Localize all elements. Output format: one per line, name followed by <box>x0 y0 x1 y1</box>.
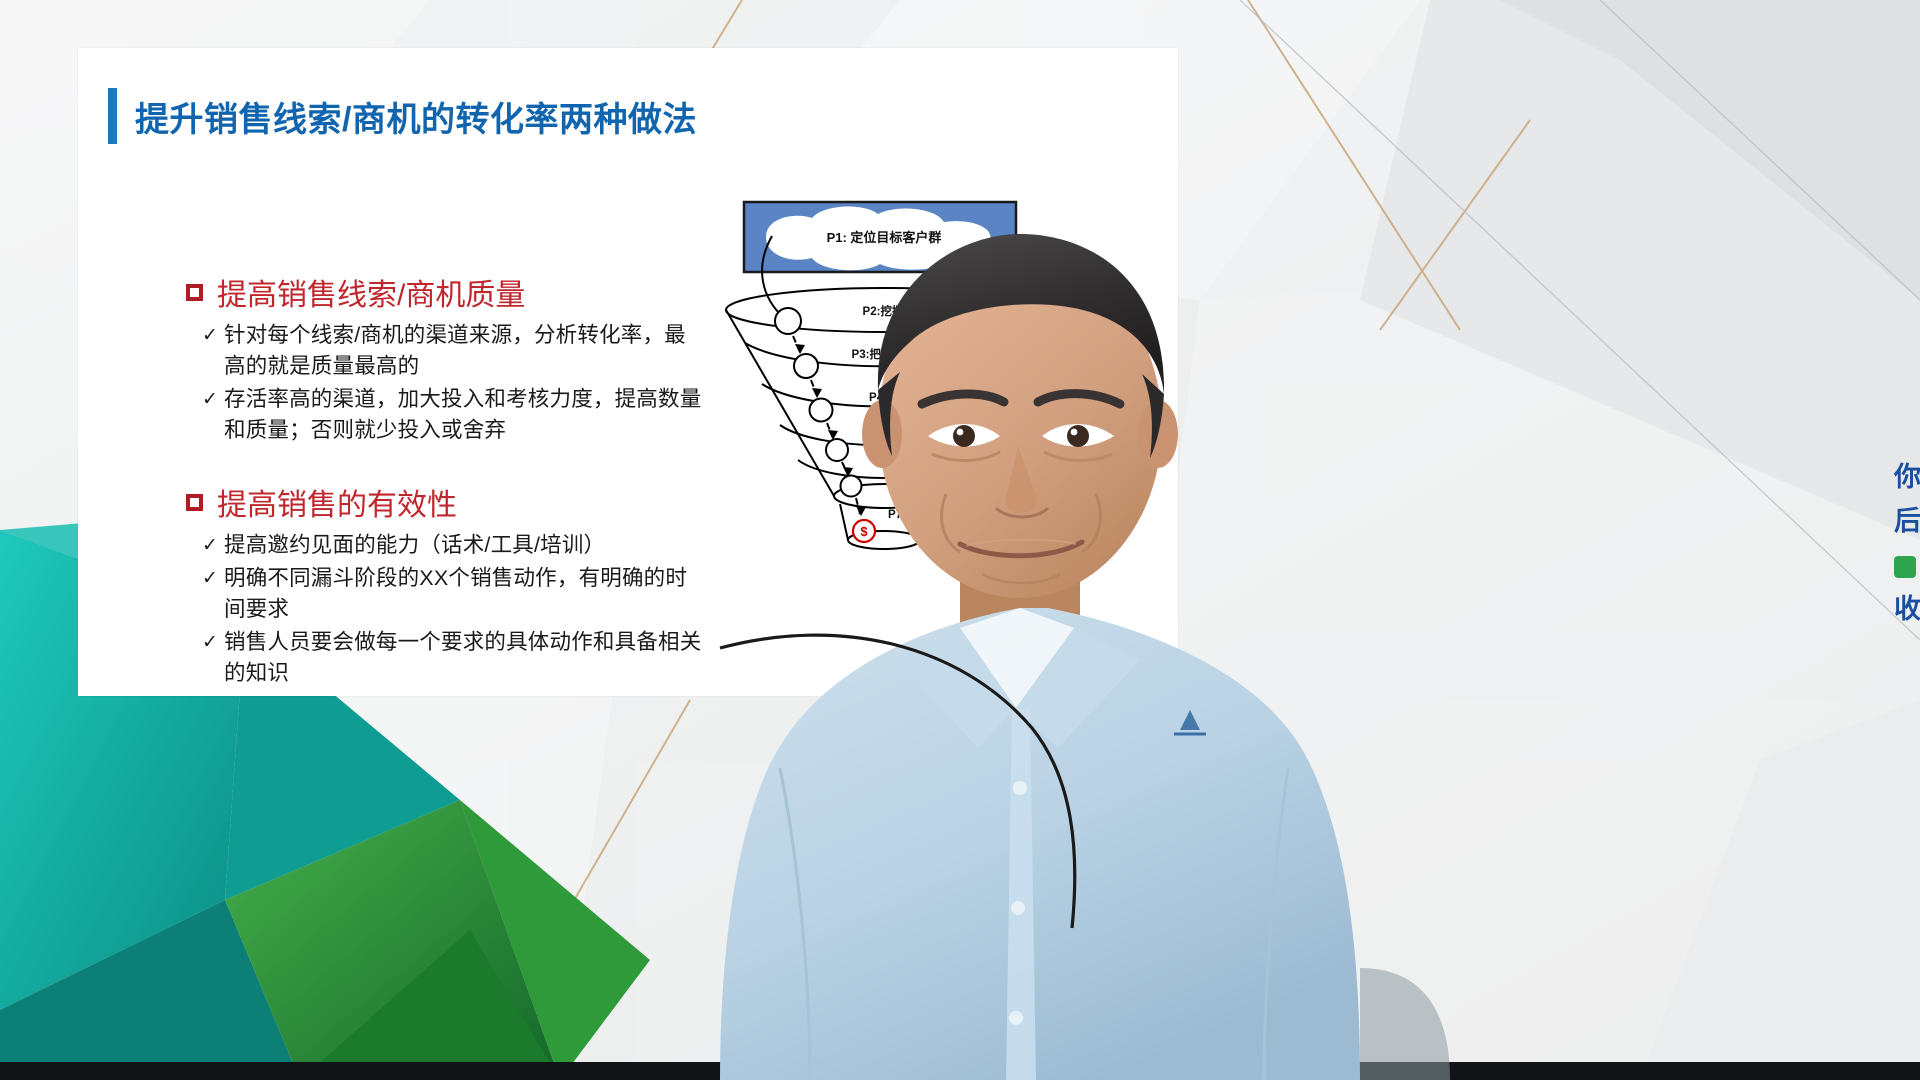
list-item: ✓ 存活率高的渠道，加大投入和考核力度，提高数量和质量；否则就少投入或舍弃 <box>202 384 706 446</box>
title-accent-bar <box>108 88 117 144</box>
check-icon: ✓ <box>202 384 224 446</box>
list-item-text: 销售人员要会做每一个要求的具体动作和具备相关的知识 <box>224 627 706 689</box>
check-icon: ✓ <box>202 530 224 561</box>
list-item-text: 明确不同漏斗阶段的XX个销售动作，有明确的时间要求 <box>224 563 706 625</box>
edge-text-line-3: 收 <box>1894 587 1920 631</box>
list-item-text: 存活率高的渠道，加大投入和考核力度，提高数量和质量；否则就少投入或舍弃 <box>224 384 706 446</box>
list-item: ✓ 针对每个线索/商机的渠道来源，分析转化率，最高的就是质量最高的 <box>202 320 706 382</box>
list-item-text: 提高邀约见面的能力（话术/工具/培训） <box>224 530 605 561</box>
page-title: 提升销售线索/商机的转化率两种做法 <box>135 92 697 141</box>
section-heading-2: 提高销售的有效性 <box>186 480 706 524</box>
section-heading-label: 提高销售线索/商机质量 <box>217 270 525 314</box>
presenter-video <box>660 208 1560 1080</box>
edge-text-line-1: 你 <box>1894 455 1920 499</box>
section-heading-1: 提高销售线索/商机质量 <box>186 270 706 314</box>
square-bullet-icon <box>186 494 203 511</box>
slide-title-row: 提升销售线索/商机的转化率两种做法 <box>108 88 697 144</box>
green-badge-icon <box>1894 543 1920 587</box>
section-heading-label: 提高销售的有效性 <box>217 480 457 524</box>
check-icon: ✓ <box>202 563 224 625</box>
content-section-1: 提高销售线索/商机质量 ✓ 针对每个线索/商机的渠道来源，分析转化率，最高的就是… <box>186 270 706 446</box>
check-icon: ✓ <box>202 320 224 382</box>
bullet-list-1: ✓ 针对每个线索/商机的渠道来源，分析转化率，最高的就是质量最高的 ✓ 存活率高… <box>202 320 706 446</box>
bullet-list-2: ✓ 提高邀约见面的能力（话术/工具/培训） ✓ 明确不同漏斗阶段的XX个销售动作… <box>202 530 706 689</box>
edge-overlay-text: 你 后 收 <box>1894 455 1920 631</box>
list-item: ✓ 提高邀约见面的能力（话术/工具/培训） <box>202 530 706 561</box>
check-icon: ✓ <box>202 627 224 689</box>
square-bullet-icon <box>186 284 203 301</box>
list-item: ✓ 销售人员要会做每一个要求的具体动作和具备相关的知识 <box>202 627 706 689</box>
slide-content-column: 提高销售线索/商机质量 ✓ 针对每个线索/商机的渠道来源，分析转化率，最高的就是… <box>186 270 706 689</box>
list-item: ✓ 明确不同漏斗阶段的XX个销售动作，有明确的时间要求 <box>202 563 706 625</box>
edge-text-line-2: 后 <box>1894 499 1920 543</box>
list-item-text: 针对每个线索/商机的渠道来源，分析转化率，最高的就是质量最高的 <box>224 320 706 382</box>
content-section-2: 提高销售的有效性 ✓ 提高邀约见面的能力（话术/工具/培训） ✓ 明确不同漏斗阶… <box>186 480 706 689</box>
